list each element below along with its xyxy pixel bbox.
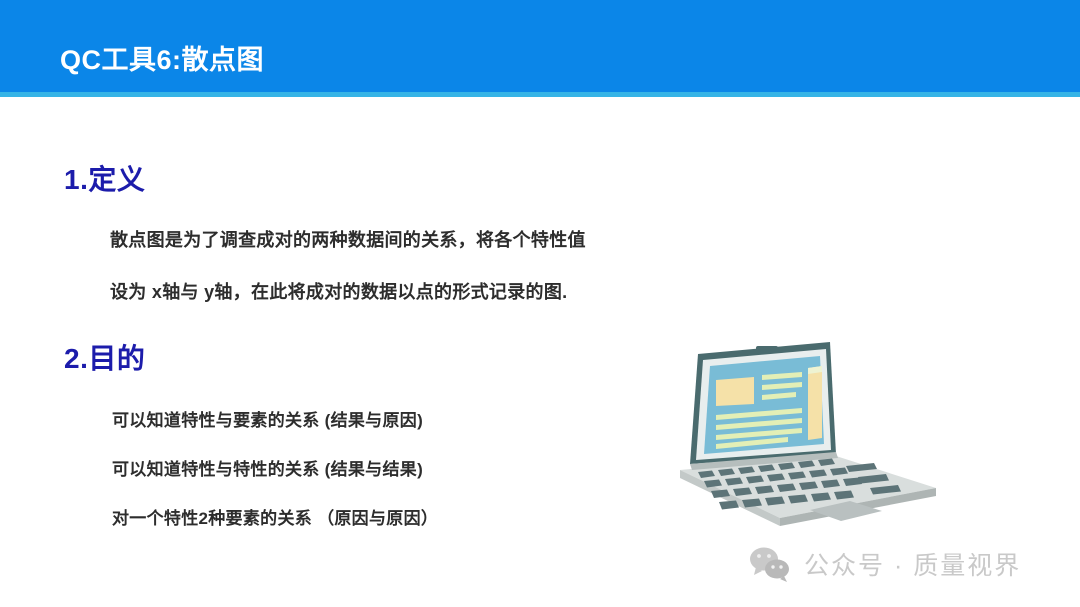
purpose-text-line-3: 对一个特性2种要素的关系 （原因与原因） — [112, 504, 438, 529]
section-heading-purpose: 2.目的 — [64, 337, 145, 377]
wechat-icon — [748, 546, 792, 582]
page-title: QC工具6:散点图 — [60, 38, 264, 77]
definition-text-line-2: 设为 x轴与 y轴，在此将成对的数据以点的形式记录的图. — [110, 278, 567, 304]
watermark: 公众号 · 质量视界 — [748, 546, 1021, 582]
definition-text-line-1: 散点图是为了调查成对的两种数据间的关系，将各个特性值 — [110, 226, 586, 252]
laptop-icon — [668, 336, 948, 536]
purpose-text-line-1: 可以知道特性与要素的关系 (结果与原因) — [112, 406, 423, 431]
purpose-text-line-2: 可以知道特性与特性的关系 (结果与结果) — [112, 455, 423, 480]
laptop-illustration — [668, 336, 948, 536]
watermark-text: 公众号 · 质量视界 — [804, 546, 1021, 582]
slide-canvas: QC工具6:散点图 1.定义 散点图是为了调查成对的两种数据间的关系，将各个特性… — [0, 0, 1080, 607]
section-heading-definition: 1.定义 — [64, 158, 145, 198]
header-accent-line — [0, 92, 1080, 97]
